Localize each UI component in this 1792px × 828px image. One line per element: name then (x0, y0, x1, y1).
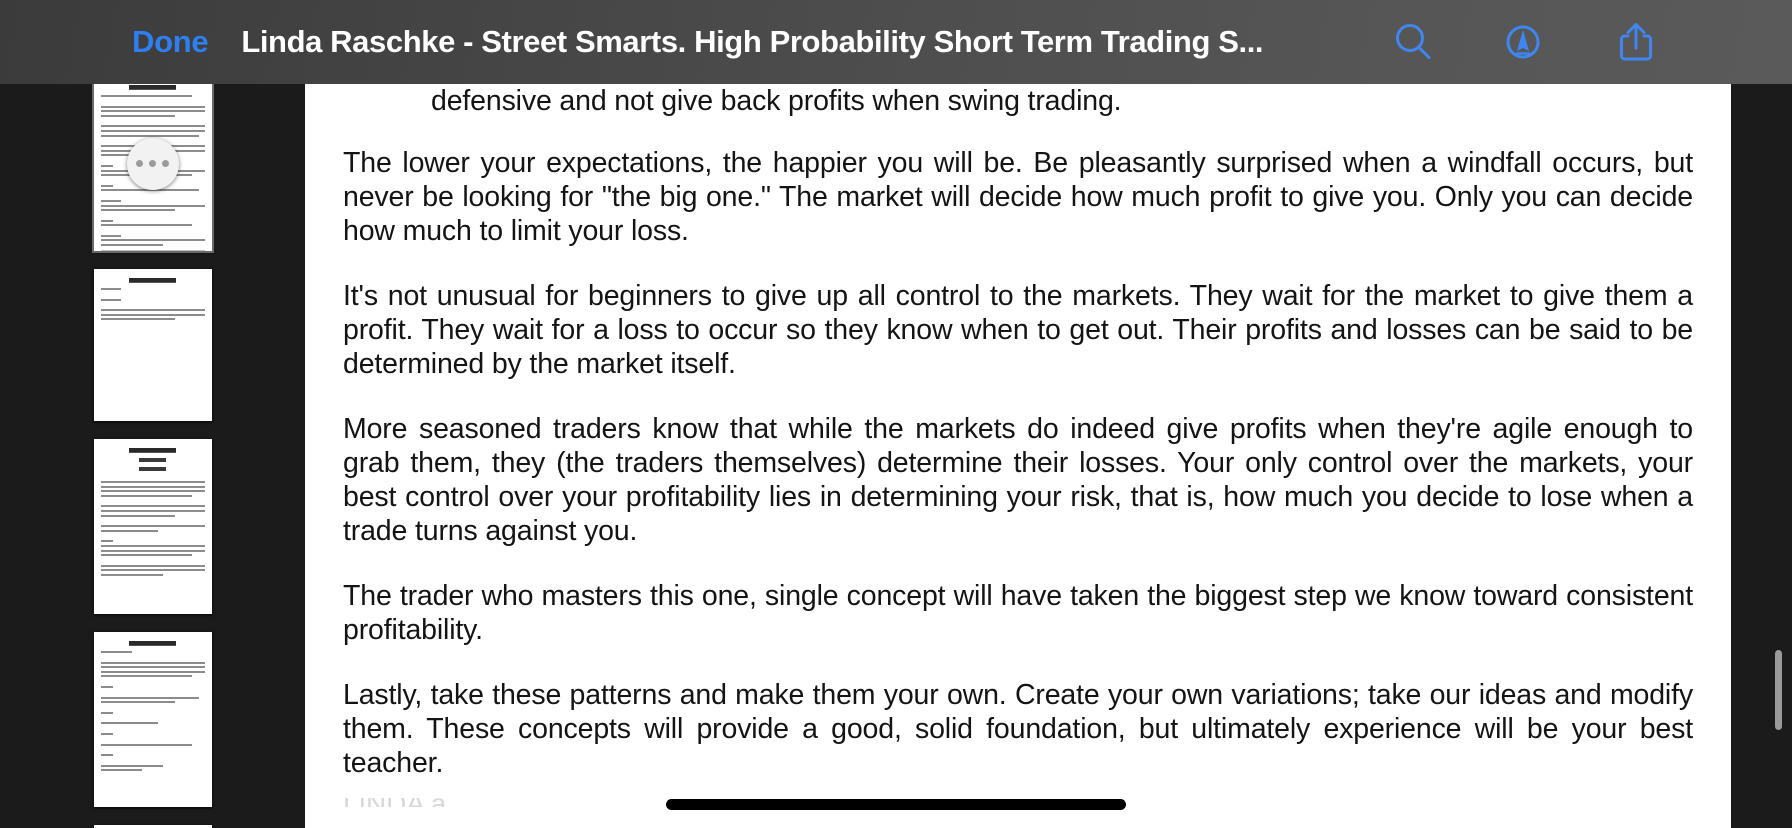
list-item[interactable] (94, 632, 212, 807)
thumbnail-text-line (101, 495, 193, 497)
thumbnail-text-line (101, 540, 113, 542)
list-item[interactable] (94, 269, 212, 421)
thumbnail-more-button[interactable] (127, 138, 179, 190)
thumbnail-text-line (101, 671, 205, 673)
thumbnail-text-line (101, 510, 205, 512)
thumbnail-text-line (101, 239, 205, 241)
paragraph: defensive and not give back profits when… (343, 84, 1693, 118)
paragraph: The trader who masters this one, single … (343, 579, 1693, 647)
paragraph: The lower your expectations, the happier… (343, 146, 1693, 248)
thumbnail-header (129, 641, 177, 646)
thumbnail-text-line (101, 565, 205, 567)
thumbnail-text-line (101, 525, 205, 527)
thumbnail-text-line (101, 722, 158, 724)
thumbnail-strip (0, 84, 305, 828)
thumbnail-sidebar[interactable] (0, 84, 305, 828)
page-title: Linda Raschke - Street Smarts. High Prob… (241, 24, 1263, 60)
thumbnail-text-line (101, 125, 205, 127)
thumbnail-text-line (101, 309, 205, 311)
thumbnail-text-line (101, 701, 176, 703)
thumbnail-text-line (101, 666, 205, 668)
pdf-reader-app: Done Linda Raschke - Street Smarts. High… (0, 0, 1792, 828)
thumbnail-text-line (101, 185, 113, 187)
thumbnail-text-line (101, 209, 176, 211)
top-toolbar: Done Linda Raschke - Street Smarts. High… (0, 0, 1792, 84)
thumbnail-text-line (101, 205, 205, 207)
thumbnail-text-line (101, 545, 205, 547)
thumbnail-header (129, 278, 177, 283)
dot-icon (136, 160, 143, 167)
document-page[interactable]: defensive and not give back profits when… (305, 84, 1731, 828)
thumbnail-text-line (101, 288, 122, 290)
thumbnail-text-line (101, 200, 122, 202)
thumbnail-text-line (101, 220, 113, 222)
thumbnail-text-line (101, 515, 176, 517)
thumbnail-text-line (101, 530, 158, 532)
scrollbar-thumb[interactable] (1775, 650, 1782, 730)
thumbnail-text-line (101, 554, 193, 556)
done-button[interactable]: Done (132, 24, 208, 60)
thumbnail-text-line (101, 765, 163, 767)
paragraph: More seasoned traders know that while th… (343, 412, 1693, 548)
thumbnail-text-line (101, 224, 193, 226)
thumbnail-text-line (101, 115, 176, 117)
list-item[interactable] (94, 439, 212, 614)
thumbnail-page-number (101, 250, 205, 251)
thumbnail-text-line (101, 189, 200, 191)
scrollbar-track[interactable] (1764, 84, 1792, 828)
paragraph: Lastly, take these patterns and make the… (343, 678, 1693, 780)
thumbnail-text-line (101, 486, 205, 488)
dot-icon (162, 160, 169, 167)
thumbnail-text-line (101, 675, 193, 677)
dot-icon (149, 160, 156, 167)
thumbnail-text-line (101, 165, 113, 167)
thumbnail-text-line (101, 712, 113, 714)
page-text-container: defensive and not give back profits when… (305, 84, 1731, 807)
thumbnail-wrapper (94, 269, 212, 421)
share-icon[interactable] (1609, 15, 1663, 69)
thumbnail-wrapper (94, 632, 212, 807)
thumbnail-text-line (101, 481, 205, 483)
thumbnail-wrapper (94, 84, 212, 251)
thumbnail-text-line (101, 662, 205, 664)
thumbnail-text-line (101, 574, 163, 576)
thumbnail-text-line (101, 733, 113, 735)
thumbnail-text-line (101, 754, 113, 756)
thumbnail-text-line (101, 697, 200, 699)
thumbnail-header (129, 85, 177, 90)
thumbnail-text-line (101, 505, 205, 507)
thumbnail-text-line (101, 106, 205, 108)
thumbnail-chapter-label (139, 458, 166, 462)
thumbnail-text-line (101, 318, 176, 320)
thumbnail-chapter-title (139, 467, 166, 471)
thumbnail-text-line (101, 95, 193, 97)
thumbnail-text-line (101, 490, 205, 492)
thumbnail-text-line (101, 314, 205, 316)
thumbnail-text-line (101, 550, 205, 552)
thumbnail-text-line (101, 651, 132, 653)
thumbnail-text-line (101, 110, 205, 112)
search-icon[interactable] (1386, 15, 1440, 69)
thumbnail-text-line (101, 686, 113, 688)
thumbnail-wrapper (94, 439, 212, 614)
thumbnail-text-line (101, 569, 205, 571)
markup-pen-icon[interactable] (1496, 15, 1550, 69)
thumbnail-text-line (101, 244, 163, 246)
thumbnail-text-line (101, 744, 193, 746)
thumbnail-text-line (101, 135, 200, 137)
paragraph: It's not unusual for beginners to give u… (343, 279, 1693, 381)
thumbnail-header (129, 448, 177, 453)
thumbnail-text-line (101, 235, 122, 237)
thumbnail-text-line (101, 769, 143, 771)
thumbnail-text-line (101, 130, 205, 132)
thumbnail-text-line (101, 299, 122, 301)
home-indicator (666, 799, 1126, 810)
